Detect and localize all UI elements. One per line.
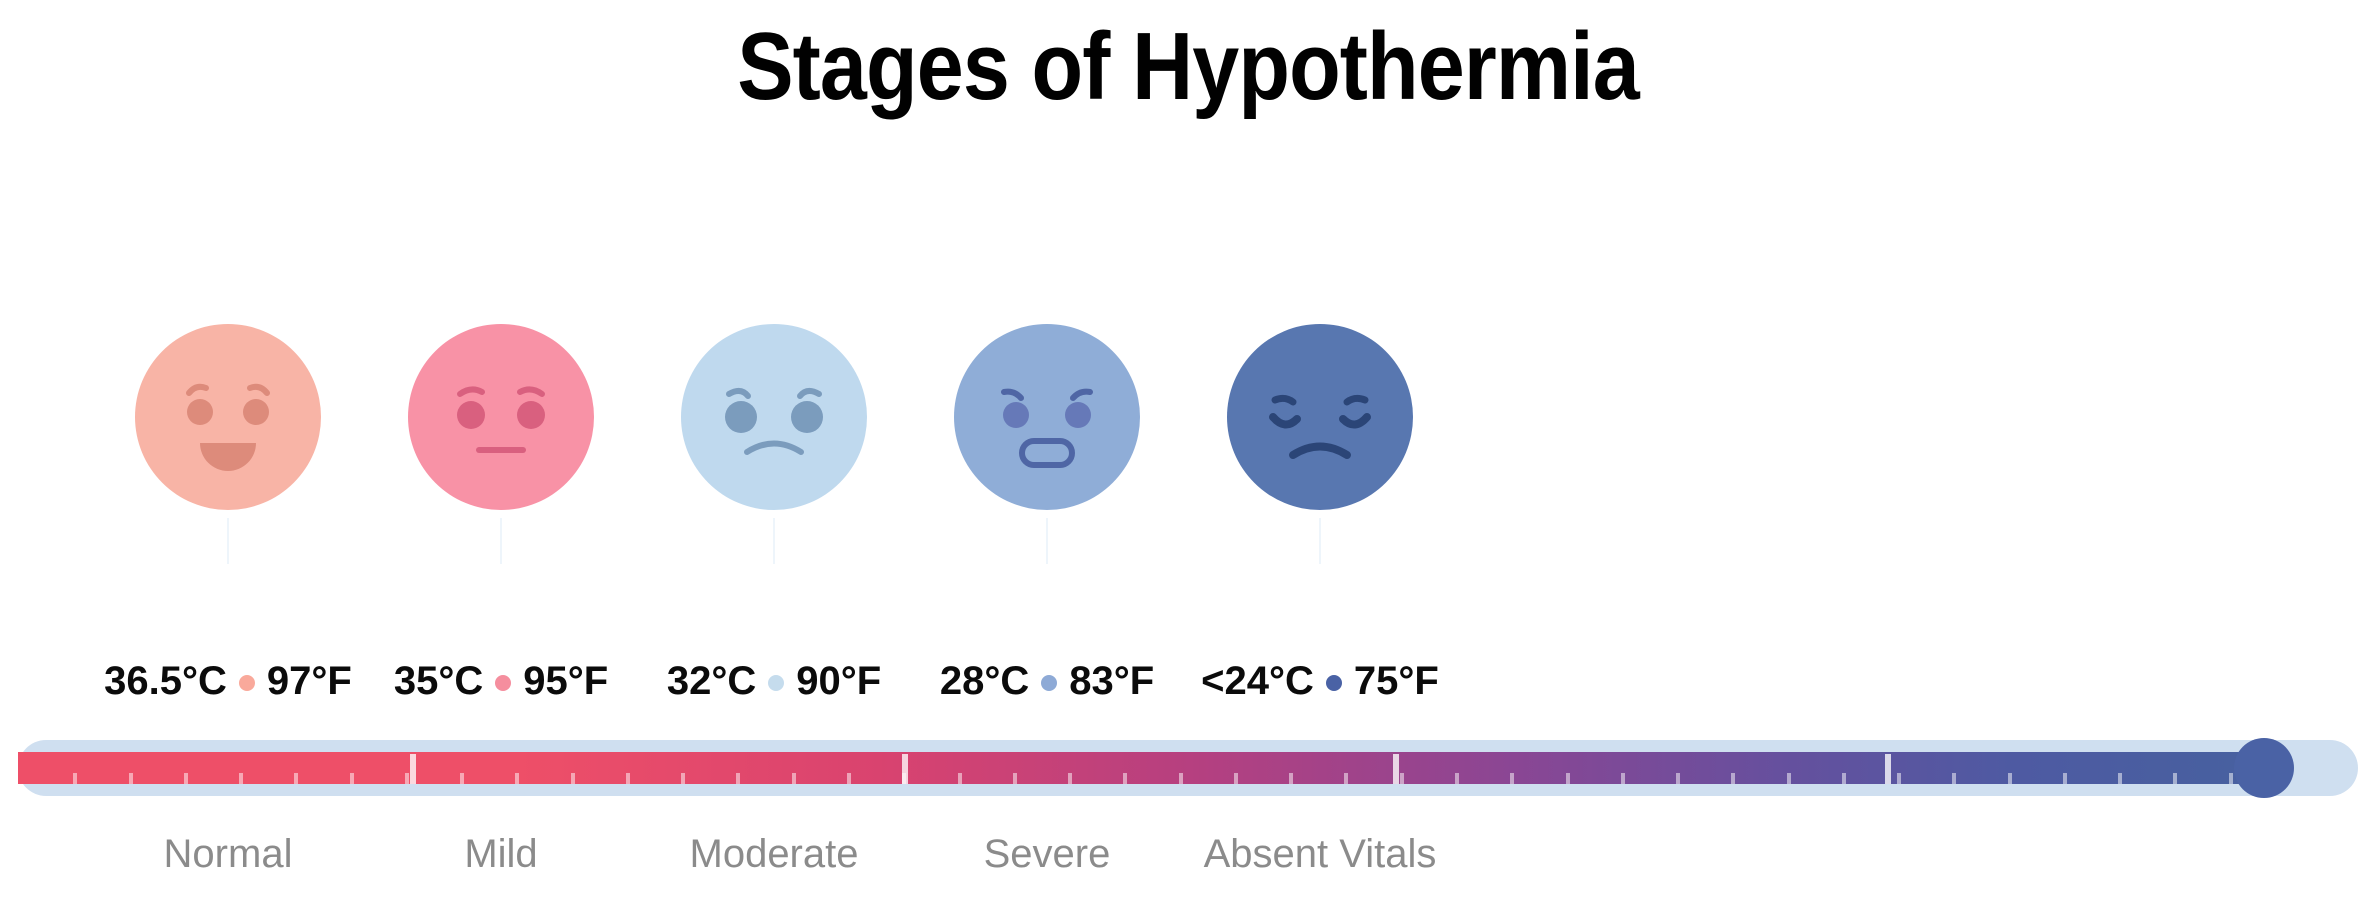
face-connector-line: [1046, 518, 1048, 564]
slider-tick-minor: [350, 773, 354, 784]
slider-tick-minor: [681, 773, 685, 784]
slider-thumb[interactable]: [2234, 738, 2294, 798]
separator-dot: [1326, 675, 1342, 691]
slider-tick-minor: [958, 773, 962, 784]
slider-tick-minor: [2229, 773, 2233, 784]
slider-tick-major: [1393, 754, 1399, 784]
slider-tick-minor: [1897, 773, 1901, 784]
temperature-scale-slider[interactable]: [18, 740, 2358, 796]
slider-tick-minor: [1123, 773, 1127, 784]
slider-tick-minor: [1234, 773, 1238, 784]
slider-tick-minor: [1289, 773, 1293, 784]
slider-tick-minor: [1621, 773, 1625, 784]
slider-tick-minor: [571, 773, 575, 784]
celsius-value: <24°C: [1201, 659, 1314, 703]
slider-tick-minor: [1068, 773, 1072, 784]
slider-tick-minor: [460, 773, 464, 784]
stage-card-absent-vitals[interactable]: [1110, 322, 1530, 522]
slider-tick-minor: [2173, 773, 2177, 784]
celsius-value: 35°C: [394, 659, 483, 703]
slider-tick-minor: [1510, 773, 1514, 784]
page-title: Stages of Hypothermia: [143, 14, 2234, 120]
temperature-labels-row: 36.5°C97°F 35°C95°F 32°C90°F 28°C83°F <2…: [0, 655, 2376, 707]
face-avatar-absent-vitals: [1225, 322, 1415, 512]
slider-tick-minor: [2118, 773, 2122, 784]
celsius-value: 28°C: [940, 659, 1029, 703]
stage-labels-row: Normal Mild Moderate Severe Absent Vital…: [0, 828, 2376, 888]
unconscious-face-icon: [1225, 322, 1415, 512]
slider-tick-minor: [1731, 773, 1735, 784]
separator-dot: [239, 675, 255, 691]
slider-tick-minor: [1842, 773, 1846, 784]
slider-tick-minor: [294, 773, 298, 784]
slider-tick-minor: [847, 773, 851, 784]
slider-tick-minor: [73, 773, 77, 784]
face-connector-line: [1319, 518, 1321, 564]
slider-tick-major: [410, 754, 416, 784]
slider-tick-minor: [1787, 773, 1791, 784]
separator-dot: [495, 675, 511, 691]
slider-tick-minor: [129, 773, 133, 784]
hypothermia-infographic: Stages of Hypothermia: [0, 0, 2376, 910]
celsius-value: 32°C: [667, 659, 756, 703]
slider-tick-minor: [1566, 773, 1570, 784]
fahrenheit-value: 75°F: [1354, 659, 1439, 703]
slider-tick-minor: [626, 773, 630, 784]
slider-tick-minor: [792, 773, 796, 784]
faces-row: [0, 322, 2376, 522]
slider-tick-minor: [1455, 773, 1459, 784]
slider-tick-minor: [1344, 773, 1348, 784]
slider-tick-minor: [239, 773, 243, 784]
temperature-label-absent-vitals: <24°C75°F: [1110, 655, 1530, 707]
slider-tick-minor: [2008, 773, 2012, 784]
slider-tick-minor: [1179, 773, 1183, 784]
slider-tick-minor: [184, 773, 188, 784]
slider-tick-minor: [2063, 773, 2067, 784]
slider-tick-major: [1885, 754, 1891, 784]
face-connector-line: [500, 518, 502, 564]
face-connector-line: [773, 518, 775, 564]
separator-dot: [1041, 675, 1057, 691]
slider-tick-minor: [736, 773, 740, 784]
slider-gradient-fill: [18, 752, 2284, 784]
slider-tick-minor: [405, 773, 409, 784]
separator-dot: [768, 675, 784, 691]
slider-tick-minor: [1952, 773, 1956, 784]
slider-tick-minor: [1676, 773, 1680, 784]
celsius-value: 36.5°C: [104, 659, 227, 703]
slider-tick-minor: [515, 773, 519, 784]
slider-tick-minor: [1400, 773, 1404, 784]
stage-label-absent-vitals: Absent Vitals: [1110, 828, 1530, 880]
face-connector-line: [227, 518, 229, 564]
slider-tick-minor: [1013, 773, 1017, 784]
slider-tick-major: [902, 754, 908, 784]
